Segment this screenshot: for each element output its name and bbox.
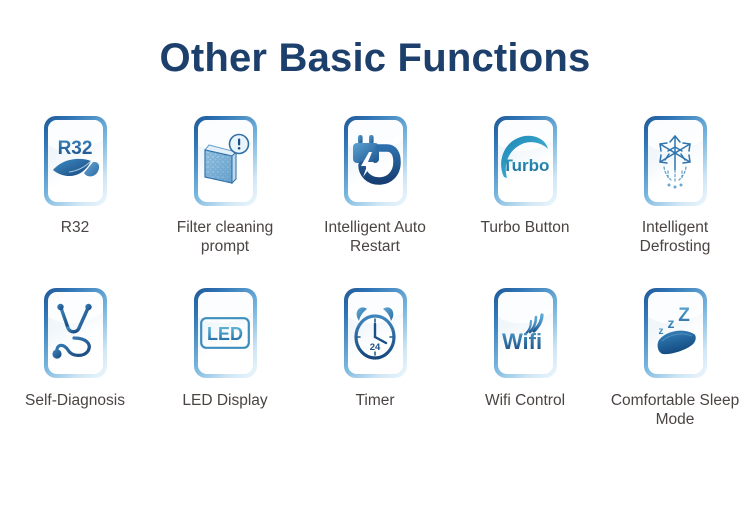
led-badge-icon: LED [200, 317, 250, 349]
stethoscope-icon [48, 302, 102, 364]
feature-label: Intelligent Defrosting [609, 218, 741, 256]
features-row-1: R32 R32 [0, 116, 750, 256]
wifi-icon-text: Wifi [502, 329, 542, 354]
filter-cleaning-tile [194, 116, 257, 206]
feature-label: Self-Diagnosis [25, 391, 125, 410]
feature-card-intelligent-auto-restart[interactable]: Intelligent Auto Restart [300, 116, 450, 256]
timer-tile: 24 [344, 288, 407, 378]
wifi-signal-icon: Wifi [498, 309, 552, 357]
feature-card-comfortable-sleep-mode[interactable]: Z z z Comfortable Sleep Mode [600, 288, 750, 429]
pillow-sleep-icon: Z z z [648, 304, 702, 362]
turbo-tile: Turbo [494, 116, 557, 206]
turbo-icon-text: Turbo [503, 156, 550, 175]
wifi-control-tile: Wifi [494, 288, 557, 378]
feature-label: LED Display [182, 391, 267, 410]
self-diagnosis-tile [44, 288, 107, 378]
features-grid: R32 R32 [0, 116, 750, 429]
feature-label: Turbo Button [480, 218, 569, 237]
feature-card-led-display[interactable]: LED LED Display [150, 288, 300, 410]
feature-label: Intelligent Auto Restart [309, 218, 441, 256]
filter-mesh-alert-icon [198, 132, 252, 190]
defrosting-tile [644, 116, 707, 206]
feature-card-turbo-button[interactable]: Turbo Turbo Button [450, 116, 600, 237]
feature-card-self-diagnosis[interactable]: Self-Diagnosis [0, 288, 150, 410]
svg-text:z: z [659, 326, 664, 337]
feature-label: Filter cleaning prompt [159, 218, 291, 256]
feature-label: Timer [355, 391, 394, 410]
feature-card-filter-cleaning-prompt[interactable]: Filter cleaning prompt [150, 116, 300, 256]
feature-label: R32 [61, 218, 89, 237]
r32-tile: R32 [44, 116, 107, 206]
led-display-tile: LED [194, 288, 257, 378]
page-title: Other Basic Functions [0, 0, 750, 78]
svg-text:Z: Z [678, 305, 690, 326]
sleep-mode-tile: Z z z [644, 288, 707, 378]
auto-restart-tile [344, 116, 407, 206]
feature-card-timer[interactable]: 24 Timer [300, 288, 450, 410]
feature-label: Comfortable Sleep Mode [609, 391, 741, 429]
r32-leaf-icon: R32 [49, 130, 101, 192]
led-icon-text: LED [207, 324, 243, 344]
svg-text:z: z [668, 315, 675, 331]
alarm-clock-icon: 24 [349, 303, 401, 363]
turbo-swoosh-icon: Turbo [498, 133, 552, 189]
feature-card-r32[interactable]: R32 R32 [0, 116, 150, 237]
timer-icon-text: 24 [370, 342, 381, 353]
features-row-2: Self-Diagnosis LED [0, 288, 750, 429]
feature-card-intelligent-defrosting[interactable]: Intelligent Defrosting [600, 116, 750, 256]
power-plug-restart-icon [349, 132, 401, 190]
svg-text:R32: R32 [58, 138, 93, 159]
snowflake-defrost-icon [649, 130, 701, 192]
feature-card-wifi-control[interactable]: Wifi Wifi Control [450, 288, 600, 410]
feature-label: Wifi Control [485, 391, 565, 410]
